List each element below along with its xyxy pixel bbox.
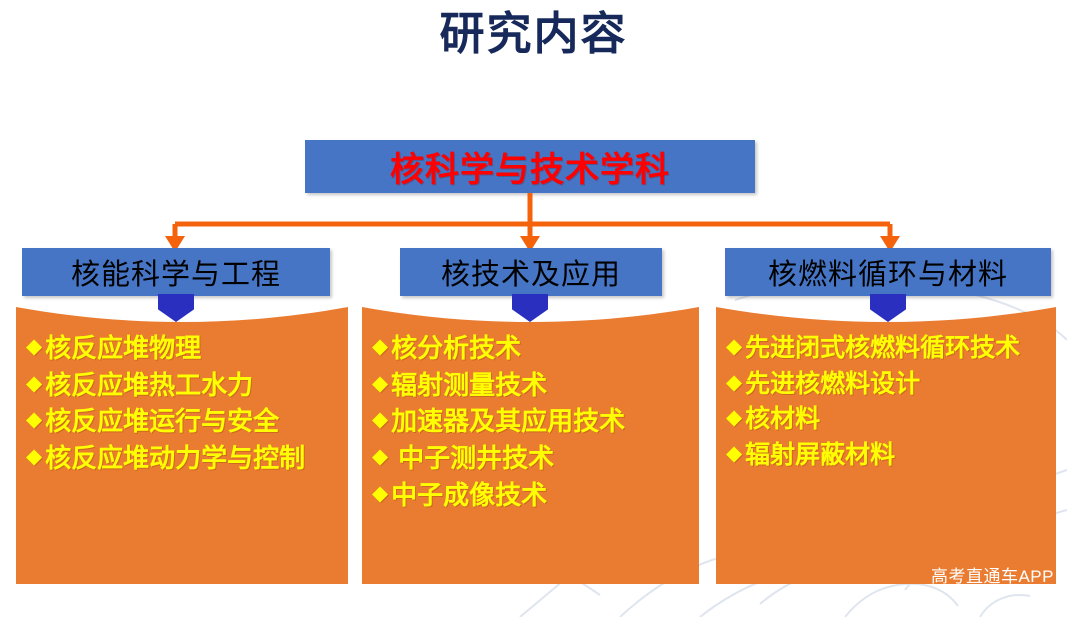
list-item: ◆ 中子成像技术 bbox=[372, 480, 693, 512]
list-item: ◆ 加速器及其应用技术 bbox=[372, 406, 693, 438]
diamond-bullet-icon: ◆ bbox=[372, 333, 391, 361]
category-header-2-label: 核技术及应用 bbox=[441, 251, 621, 293]
page-title: 研究内容 bbox=[0, 8, 1067, 60]
diamond-bullet-icon: ◆ bbox=[372, 443, 391, 471]
list-item: ◆ 核反应堆动力学与控制 bbox=[26, 443, 342, 475]
list-item-label: 核材料 bbox=[745, 404, 820, 435]
list-item: ◆ 核分析技术 bbox=[372, 333, 693, 365]
list-item-label: 核反应堆动力学与控制 bbox=[45, 443, 305, 475]
list-item: ◆ 中子测井技术 bbox=[372, 443, 693, 475]
category-column-2: 核技术及应用 ◆ 核分析技术 ◆ 辐射测量技术 ◆ 加速器及其应用技术 bbox=[362, 248, 699, 584]
list-item-label: 辐射测量技术 bbox=[391, 370, 547, 402]
diamond-bullet-icon: ◆ bbox=[372, 370, 391, 398]
category-header-1-label: 核能科学与工程 bbox=[71, 251, 281, 293]
slide-canvas: 研究内容 核科学与技术学科 核能科学与工程 bbox=[0, 0, 1067, 617]
list-item: ◆ 核反应堆物理 bbox=[26, 333, 342, 365]
root-node[interactable]: 核科学与技术学科 bbox=[305, 140, 755, 193]
root-node-label: 核科学与技术学科 bbox=[390, 142, 670, 191]
category-column-3: 核燃料循环与材料 ◆ 先进闭式核燃料循环技术 ◆ 先进核燃料设计 ◆ 核材料 bbox=[716, 248, 1056, 584]
list-item-label: 核反应堆物理 bbox=[45, 333, 201, 365]
list-item-label: 先进核燃料设计 bbox=[745, 369, 920, 400]
category-panel-1: ◆ 核反应堆物理 ◆ 核反应堆热工水力 ◆ 核反应堆运行与安全 ◆ 核反应堆动力… bbox=[16, 307, 348, 584]
list-item: ◆ 核材料 bbox=[726, 404, 1050, 435]
diamond-bullet-icon: ◆ bbox=[726, 440, 745, 468]
list-item-label: 中子成像技术 bbox=[391, 480, 547, 512]
list-item-label: 中子测井技术 bbox=[391, 443, 554, 475]
list-item-label: 辐射屏蔽材料 bbox=[745, 440, 895, 471]
list-item-label: 加速器及其应用技术 bbox=[391, 406, 625, 438]
list-item: ◆ 辐射测量技术 bbox=[372, 370, 693, 402]
list-item-label: 核反应堆运行与安全 bbox=[45, 406, 279, 438]
watermark-label: 高考直通车APP bbox=[931, 562, 1054, 587]
list-item: ◆ 先进核燃料设计 bbox=[726, 369, 1050, 400]
diamond-bullet-icon: ◆ bbox=[26, 406, 45, 434]
panel-list-3: ◆ 先进闭式核燃料循环技术 ◆ 先进核燃料设计 ◆ 核材料 ◆ 辐射屏蔽材料 bbox=[716, 333, 1056, 475]
list-item: ◆ 核反应堆热工水力 bbox=[26, 370, 342, 402]
diamond-bullet-icon: ◆ bbox=[726, 369, 745, 397]
diamond-bullet-icon: ◆ bbox=[26, 370, 45, 398]
list-item: ◆ 辐射屏蔽材料 bbox=[726, 440, 1050, 471]
list-item-label: 先进闭式核燃料循环技术 bbox=[745, 333, 1020, 364]
category-header-2[interactable]: 核技术及应用 bbox=[400, 248, 662, 296]
diamond-bullet-icon: ◆ bbox=[726, 404, 745, 432]
category-header-3[interactable]: 核燃料循环与材料 bbox=[725, 248, 1051, 296]
diamond-bullet-icon: ◆ bbox=[726, 333, 745, 361]
panel-list-1: ◆ 核反应堆物理 ◆ 核反应堆热工水力 ◆ 核反应堆运行与安全 ◆ 核反应堆动力… bbox=[16, 333, 348, 480]
panel-list-2: ◆ 核分析技术 ◆ 辐射测量技术 ◆ 加速器及其应用技术 ◆ 中子测井技术 ◆ bbox=[362, 333, 699, 517]
category-panel-3: ◆ 先进闭式核燃料循环技术 ◆ 先进核燃料设计 ◆ 核材料 ◆ 辐射屏蔽材料 bbox=[716, 307, 1056, 584]
list-item: ◆ 先进闭式核燃料循环技术 bbox=[726, 333, 1050, 364]
category-panel-2: ◆ 核分析技术 ◆ 辐射测量技术 ◆ 加速器及其应用技术 ◆ 中子测井技术 ◆ bbox=[362, 307, 699, 584]
diamond-bullet-icon: ◆ bbox=[26, 333, 45, 361]
category-column-1: 核能科学与工程 ◆ 核反应堆物理 ◆ 核反应堆热工水力 ◆ 核反应堆运行与安全 bbox=[16, 248, 348, 584]
diamond-bullet-icon: ◆ bbox=[372, 480, 391, 508]
category-header-3-label: 核燃料循环与材料 bbox=[768, 251, 1008, 293]
list-item-label: 核反应堆热工水力 bbox=[45, 370, 253, 402]
category-header-1[interactable]: 核能科学与工程 bbox=[22, 248, 330, 296]
list-item: ◆ 核反应堆运行与安全 bbox=[26, 406, 342, 438]
diamond-bullet-icon: ◆ bbox=[26, 443, 45, 471]
diamond-bullet-icon: ◆ bbox=[372, 406, 391, 434]
list-item-label: 核分析技术 bbox=[391, 333, 521, 365]
